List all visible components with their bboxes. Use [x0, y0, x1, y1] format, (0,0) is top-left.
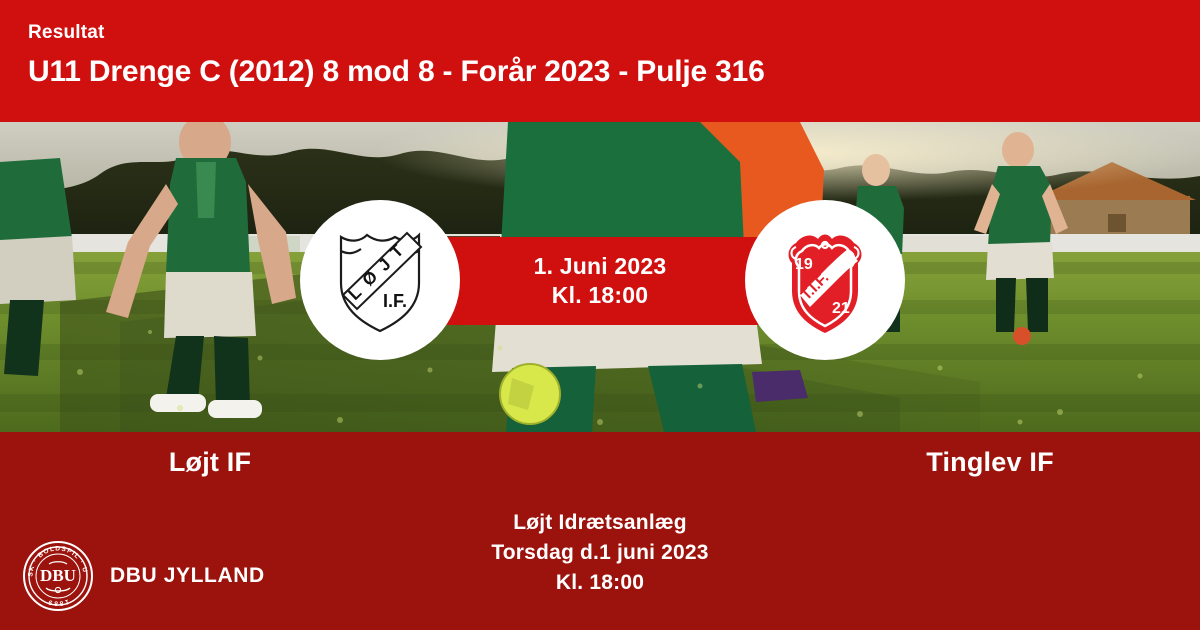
- svg-text:21: 21: [832, 300, 850, 317]
- team-names-row: Løjt IF Tinglev IF: [0, 447, 1200, 478]
- header: Resultat U11 Drenge C (2012) 8 mod 8 - F…: [0, 0, 1200, 122]
- venue-place: Løjt Idrætsanlæg: [0, 508, 1200, 538]
- brand-label: DBU JYLLAND: [110, 564, 265, 588]
- lojt-if-crest-icon: L Ø J T I.F.: [321, 221, 439, 339]
- match-time: Kl. 18:00: [552, 281, 648, 310]
- brand-footer: DANSK · BOLDSPIL · UNION 1889 DBU DBU JY…: [22, 536, 265, 616]
- tinglev-if-crest-icon: 19 21 T.I.F.: [766, 221, 884, 339]
- match-result-card: Resultat U11 Drenge C (2012) 8 mod 8 - F…: [0, 0, 1200, 630]
- dbu-seal-icon: DANSK · BOLDSPIL · UNION 1889 DBU: [22, 540, 94, 612]
- home-team-name: Løjt IF: [0, 447, 600, 478]
- page-title: U11 Drenge C (2012) 8 mod 8 - Forår 2023…: [28, 52, 1200, 92]
- svg-text:19: 19: [795, 256, 813, 273]
- header-kicker: Resultat: [28, 22, 1200, 44]
- home-team-crest: L Ø J T I.F.: [300, 200, 460, 360]
- away-team-name: Tinglev IF: [600, 447, 1200, 478]
- away-team-crest: 19 21 T.I.F.: [745, 200, 905, 360]
- match-date: 1. Juni 2023: [534, 252, 667, 281]
- svg-text:DBU: DBU: [40, 566, 76, 585]
- svg-text:I.F.: I.F.: [383, 291, 407, 311]
